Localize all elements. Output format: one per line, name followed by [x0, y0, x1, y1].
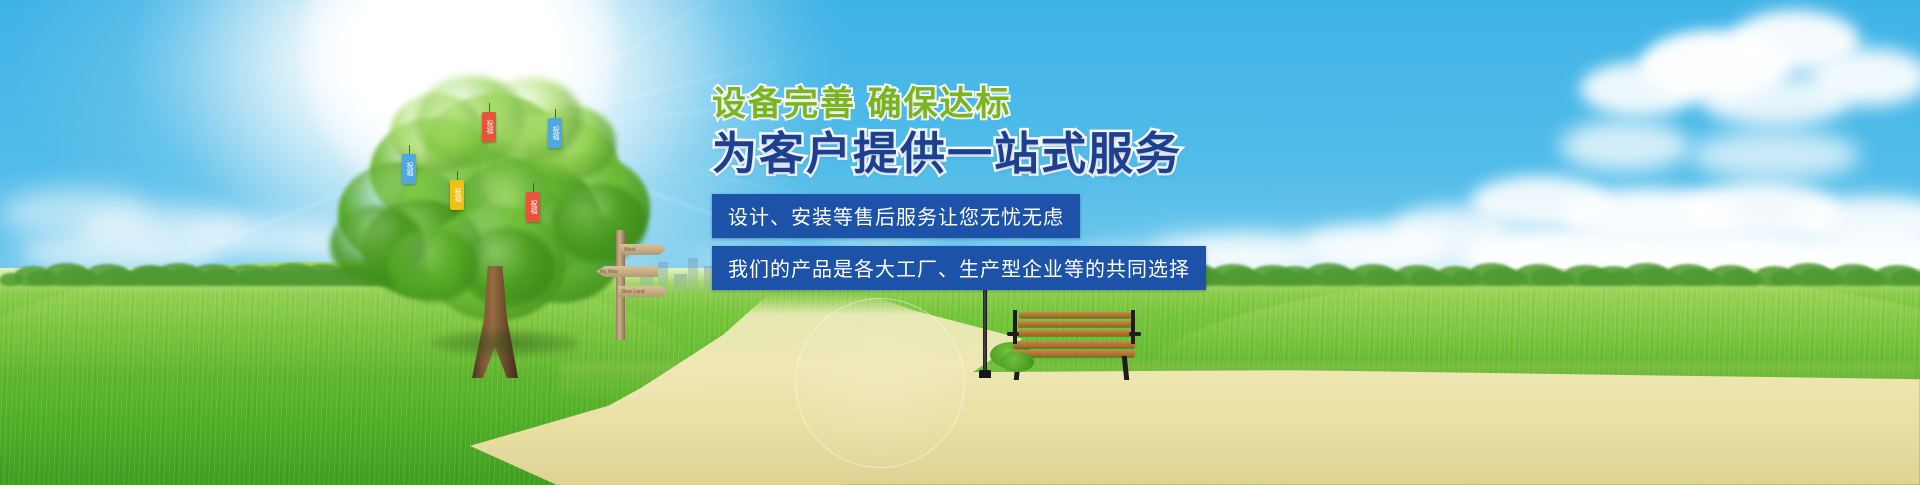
- bench-backpost-left: [1013, 310, 1017, 344]
- cloud: [1690, 130, 1860, 180]
- tree-tag: 祝福: [482, 112, 496, 142]
- cloud: [1560, 120, 1690, 172]
- signpost-arm-blueland: Blue Land: [618, 286, 668, 297]
- subtitle-bar-2: 我们的产品是各大工厂、生产型企业等的共同选择: [712, 246, 1206, 290]
- bench-backpost-right: [1131, 310, 1135, 344]
- bench-back-slat-2: [1018, 321, 1132, 327]
- tree-tag: 祝福: [548, 118, 562, 148]
- tree-tag: 祝福: [450, 180, 464, 210]
- lamp-base: [979, 370, 991, 378]
- park-bench-icon: [1005, 310, 1140, 382]
- lamp-pole: [983, 282, 987, 378]
- subtitle-bar-1: 设计、安装等售后服务让您无忧无虑: [712, 194, 1080, 238]
- signpost-icon: West My Way Blue Land: [592, 230, 670, 340]
- bush-right: [1000, 352, 1034, 372]
- treeline-blob: [1905, 273, 1920, 286]
- headline-secondary: 为客户提供一站式服务: [712, 127, 1412, 180]
- cloud: [1700, 74, 1850, 126]
- bench-back-slat-3: [1017, 330, 1133, 336]
- tree-shadow: [430, 330, 580, 356]
- headline-primary: 设备完善 确保达标: [712, 85, 1412, 123]
- hero-banner: 祝福祝福祝福祝福祝福 West My Way Blue Land 设备完善 确保…: [0, 0, 1920, 485]
- foliage-blob: [388, 228, 478, 302]
- bench-seat-slat-1: [1013, 341, 1135, 348]
- signpost-arm-myway: My Way: [596, 266, 658, 277]
- tree-tag: 祝福: [402, 154, 416, 184]
- banner-copy: 设备完善 确保达标 为客户提供一站式服务 设计、安装等售后服务让您无忧无虑 我们…: [712, 85, 1412, 290]
- bench-leg-right: [1122, 356, 1130, 380]
- tree-tag: 祝福: [526, 192, 540, 222]
- subtitle-row-1: 设计、安装等售后服务让您无忧无虑: [712, 180, 1412, 238]
- skyline-building: [688, 258, 698, 292]
- field-circle-marker: [795, 298, 965, 468]
- cloud: [1580, 62, 1700, 116]
- signpost-arm-west: West: [620, 244, 666, 255]
- foliage-blob: [482, 78, 582, 160]
- bench-back-slat-1: [1019, 312, 1131, 318]
- subtitle-row-2: 我们的产品是各大工厂、生产型企业等的共同选择: [712, 238, 1412, 290]
